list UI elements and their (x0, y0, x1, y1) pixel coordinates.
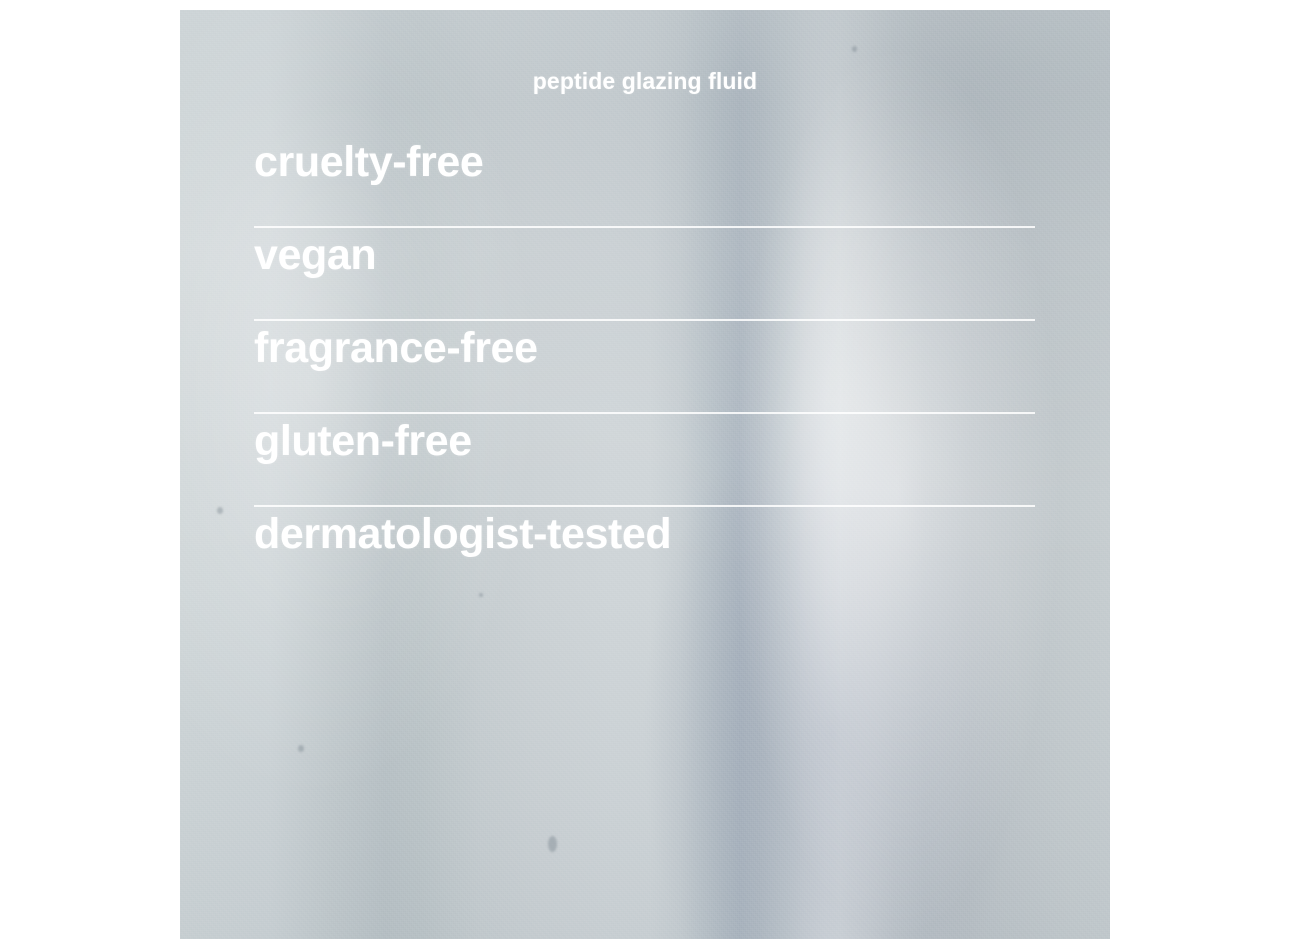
claim-row-dermatologist-tested: dermatologist-tested (254, 507, 1035, 600)
claim-row-gluten-free: gluten-free (254, 414, 1035, 507)
claim-row-fragrance-free: fragrance-free (254, 321, 1035, 414)
claim-row-vegan: vegan (254, 228, 1035, 321)
product-claims-list: cruelty-free vegan fragrance-free gluten… (254, 135, 1035, 600)
claim-label: dermatologist-tested (254, 513, 671, 556)
claim-row-cruelty-free: cruelty-free (254, 135, 1035, 228)
product-image-panel: peptide glazing fluid cruelty-free vegan… (180, 10, 1110, 939)
claim-label: vegan (254, 234, 376, 277)
product-title: peptide glazing fluid (180, 68, 1110, 95)
claim-label: fragrance-free (254, 327, 538, 370)
claim-label: gluten-free (254, 420, 472, 463)
claim-label: cruelty-free (254, 141, 483, 184)
